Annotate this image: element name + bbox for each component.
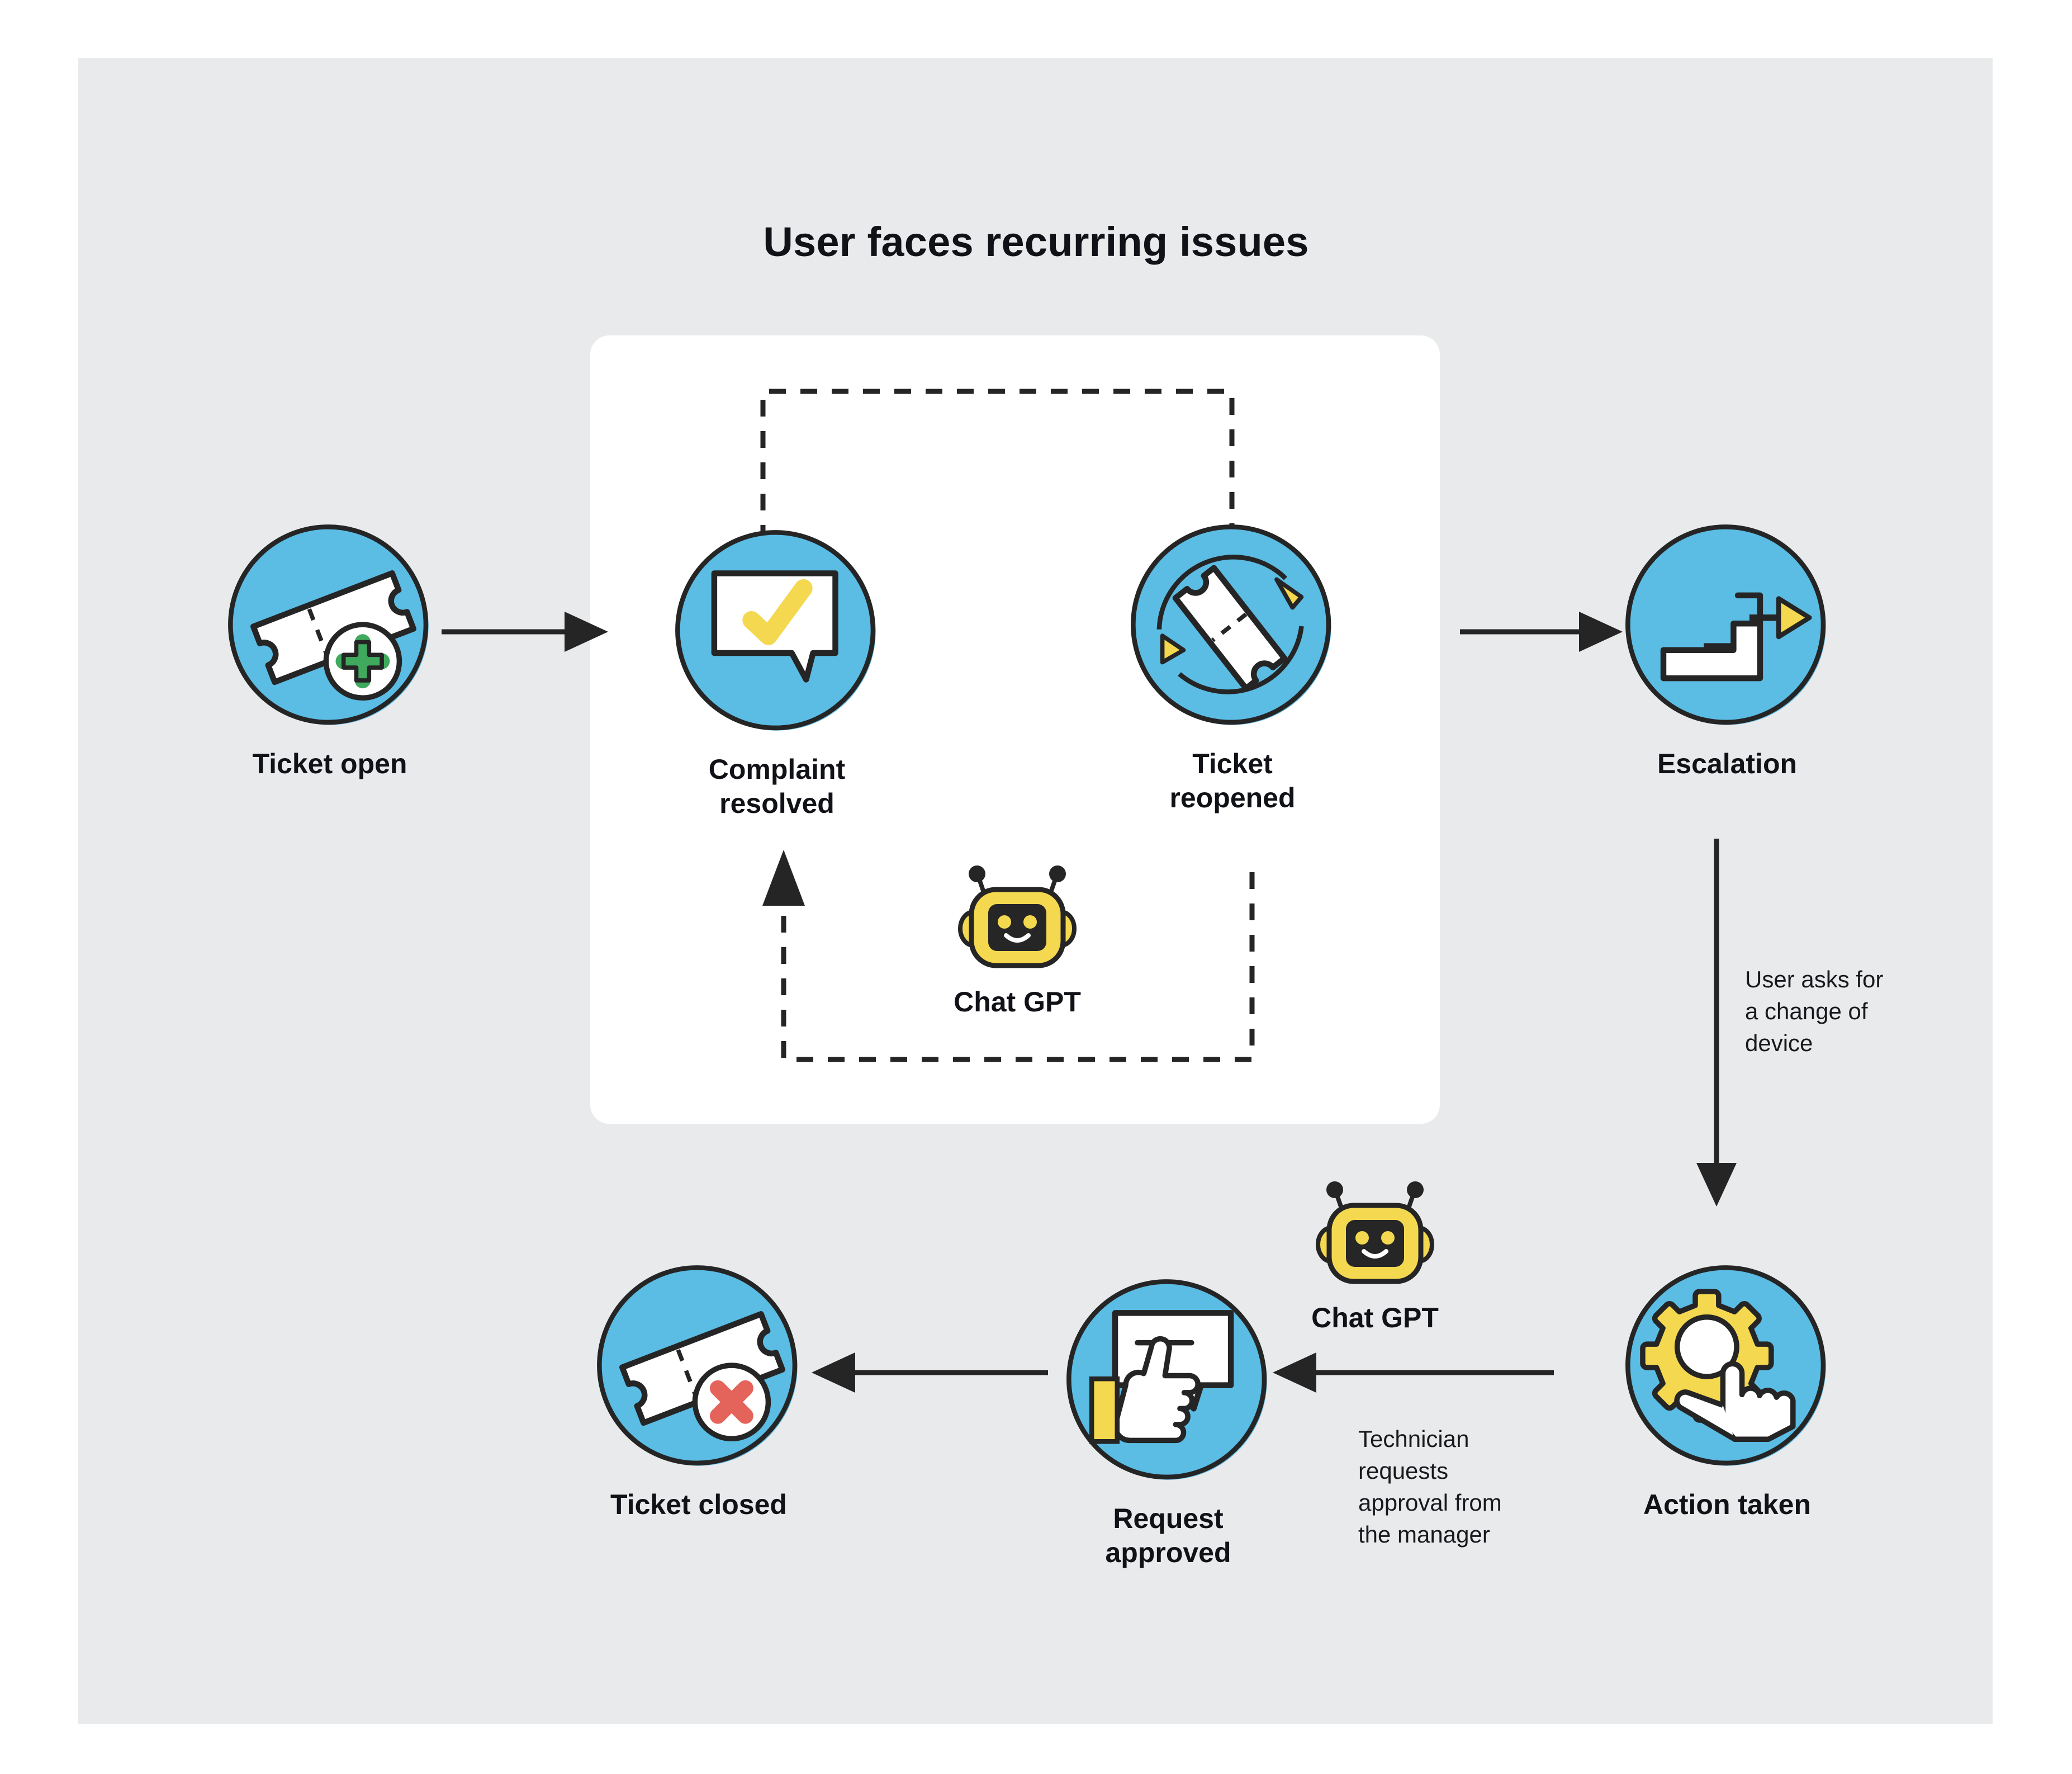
node-request-approved[interactable]: Request approved [1051, 1275, 1286, 1570]
annotation-line-1: User asks for [1745, 963, 1883, 995]
node-label-line-1: Request [1051, 1502, 1286, 1536]
node-label-complaint-resolved: Complaint resolved [660, 753, 894, 821]
node-label-ticket-reopened: Ticket reopened [1115, 747, 1350, 815]
stairs-arrow-icon [1621, 520, 1833, 732]
node-label-line-2: reopened [1115, 781, 1350, 815]
node-label-action-taken: Action taken [1610, 1488, 1845, 1522]
annotation-line-1: Technician [1358, 1423, 1502, 1455]
ticket-plus-icon [224, 520, 436, 732]
thumbs-up-bubble-icon [1062, 1275, 1274, 1487]
speech-bubble-check-icon [671, 526, 883, 738]
node-label-line-1: Complaint [660, 753, 894, 787]
node-label-escalation: Escalation [1610, 747, 1845, 781]
robot-icon [1258, 1180, 1492, 1292]
gear-hand-click-icon [1621, 1261, 1833, 1473]
node-complaint-resolved[interactable]: Complaint resolved [660, 526, 894, 821]
annotation-line-2: requests [1358, 1455, 1502, 1487]
ticket-refresh-icon [1126, 520, 1339, 732]
node-ticket-reopened[interactable]: Ticket reopened [1115, 520, 1350, 815]
node-action-taken[interactable]: Action taken [1610, 1261, 1845, 1522]
node-escalation[interactable]: Escalation [1610, 520, 1845, 781]
diagram-canvas: User faces recurring issues [0, 0, 2072, 1774]
annotation-line-2: a change of [1745, 995, 1883, 1027]
node-ticket-open[interactable]: Ticket open [212, 520, 447, 781]
node-label-ticket-closed: Ticket closed [581, 1488, 816, 1522]
page-title: User faces recurring issues [0, 218, 2072, 266]
node-ticket-closed[interactable]: Ticket closed [581, 1261, 816, 1522]
node-label-line-2: approved [1051, 1536, 1286, 1570]
annotation-manager-approval: Technician requests approval from the ma… [1358, 1423, 1502, 1550]
node-label-ticket-open: Ticket open [212, 747, 447, 781]
node-label-request-approved: Request approved [1051, 1502, 1286, 1570]
ticket-close-icon [592, 1261, 805, 1473]
agent-label-chatgpt-top: Chat GPT [900, 986, 1135, 1018]
robot-icon [900, 864, 1135, 976]
agent-label-chatgpt-bottom: Chat GPT [1258, 1302, 1492, 1334]
node-label-line-1: Ticket [1115, 747, 1350, 781]
annotation-line-3: device [1745, 1027, 1883, 1059]
agent-chatgpt-top[interactable]: Chat GPT [900, 864, 1135, 1018]
agent-chatgpt-bottom[interactable]: Chat GPT [1258, 1180, 1492, 1334]
node-label-line-2: resolved [660, 787, 894, 821]
annotation-line-3: approval from [1358, 1487, 1502, 1518]
annotation-line-4: the manager [1358, 1518, 1502, 1550]
annotation-change-of-device: User asks for a change of device [1745, 963, 1883, 1059]
